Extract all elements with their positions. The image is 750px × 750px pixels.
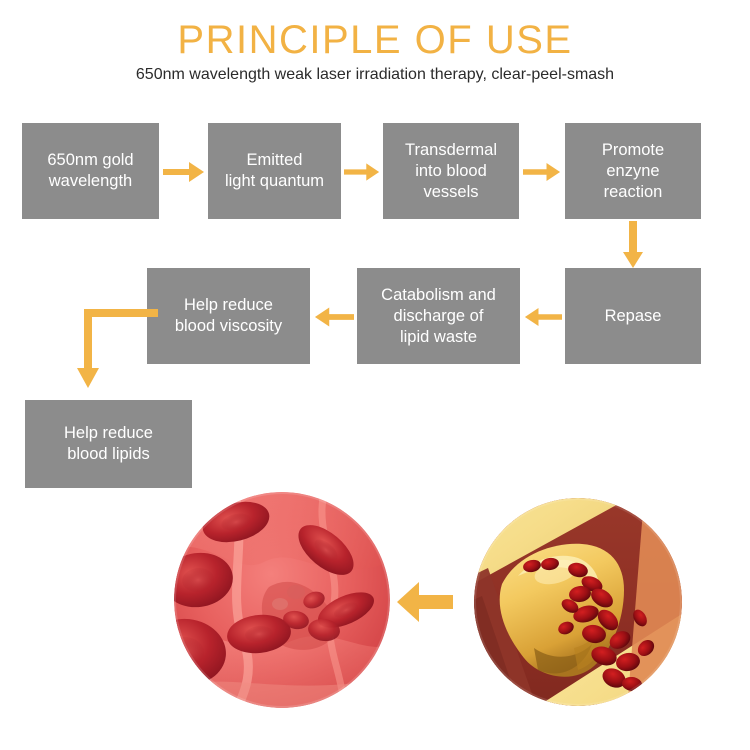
blocked-artery-photo	[474, 498, 682, 706]
arrow-viscosity-to-lipids-elbow-icon	[70, 308, 160, 398]
infographic-canvas: PRINCIPLE OF USE 650nm wavelength weak l…	[0, 0, 750, 750]
healthy-blood-vessel-photo	[174, 492, 390, 708]
flow-step-transdermal-into-blood-vessels: Transdermal into blood vessels	[383, 123, 519, 219]
arrow-catabolism-to-viscosity-icon	[314, 306, 354, 328]
flow-step-catabolism-discharge-lipid-waste: Catabolism and discharge of lipid waste	[357, 268, 520, 364]
flow-step-help-reduce-blood-lipids: Help reduce blood lipids	[25, 400, 192, 488]
page-title: PRINCIPLE OF USE	[0, 18, 750, 62]
flow-step-emitted-light-quantum: Emitted light quantum	[208, 123, 341, 219]
flow-step-650nm-gold-wavelength: 650nm gold wavelength	[22, 123, 159, 219]
arrow-step4-to-repase-icon	[622, 221, 644, 269]
arrow-step1-to-step2-icon	[163, 161, 205, 183]
arrow-blocked-to-healthy-icon	[396, 580, 454, 624]
arrow-step3-to-step4-icon	[523, 161, 561, 183]
arrow-repase-to-catabolism-icon	[524, 306, 562, 328]
arrow-step2-to-step3-icon	[344, 161, 380, 183]
page-subtitle: 650nm wavelength weak laser irradiation …	[0, 65, 750, 85]
flow-step-repase: Repase	[565, 268, 701, 364]
flow-step-promote-enzyne-reaction: Promote enzyne reaction	[565, 123, 701, 219]
flow-step-help-reduce-blood-viscosity: Help reduce blood viscosity	[147, 268, 310, 364]
